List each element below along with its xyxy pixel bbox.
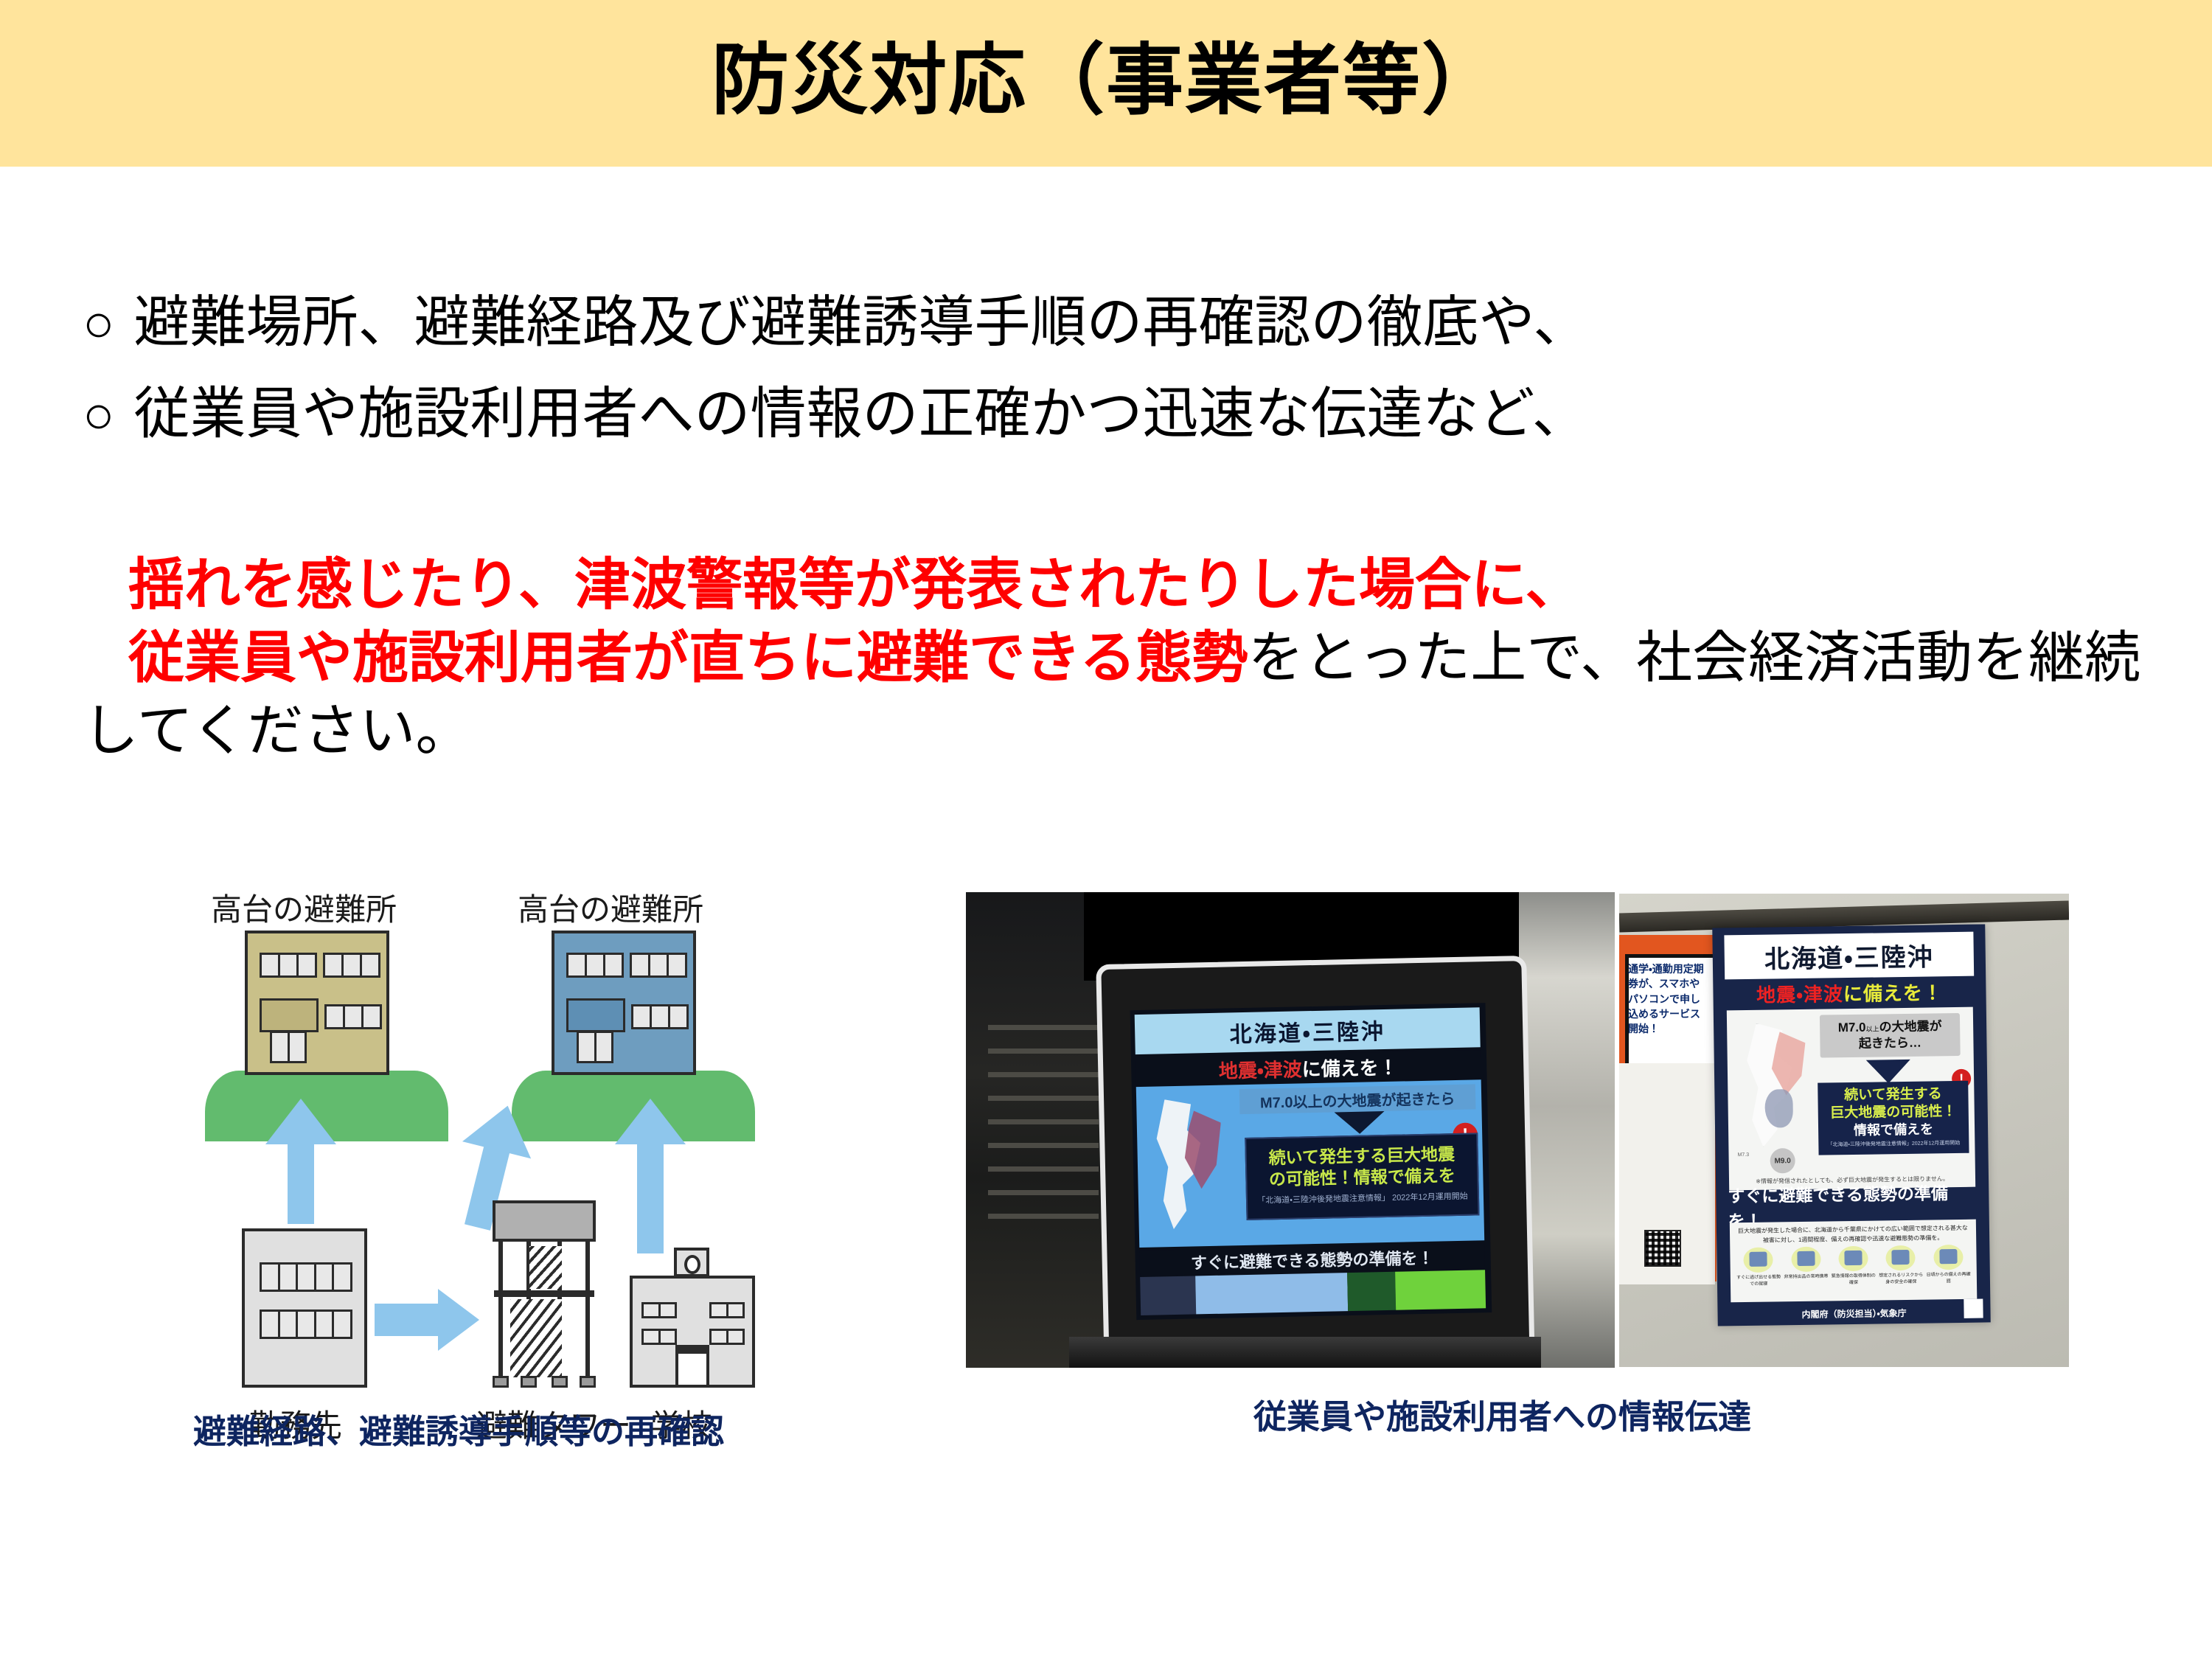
poster-icon-item: 想定されるリスクから身の安全の確保 — [1877, 1245, 1925, 1298]
poster-subtitle-red: 地震・津波 — [1756, 979, 1843, 1008]
statement-line-2: 従業員や施設利用者が直ちに避難できる態勢をとった上で、社会経済活動を継続 — [83, 622, 2177, 695]
pos-screen-header: 北海道・三陸沖 — [1135, 1007, 1481, 1054]
statement-line-2-red: 従業員や施設利用者が直ちに避難できる態勢 — [128, 627, 1248, 689]
pos-button[interactable] — [1347, 1272, 1397, 1311]
disaster-poster: 北海道・三陸沖 地震・津波に備えを！ M7.0以上の大地震が 起きたら… ! 続… — [1712, 924, 1991, 1326]
poster-main-panel: M7.0以上の大地震が 起きたら… ! 続いて発生する 巨大地震の可能性！ 情報… — [1727, 1007, 1975, 1191]
page-title: 防災対応（事業者等） — [712, 42, 1500, 119]
statement-line-1-red: 揺れを感じたり、津波警報等が発表されたりした場合に、 — [128, 554, 1582, 616]
circle-bullet-icon: ○ — [83, 297, 115, 350]
workplace-building — [242, 1228, 367, 1388]
pos-warning-box: 続いて発生する巨大地震 の可能性！情報で備えを 「北海道・三陸沖後発地震注意情報… — [1245, 1133, 1479, 1220]
photo-wall-poster: 通学・通勤用定期券が、スマホやパソコンで申し込めるサービス開始！ 北海道・三陸沖… — [1619, 894, 2069, 1367]
bullet-item-label: 従業員や施設利用者への情報の正確かつ迅速な伝達など、 — [134, 386, 1588, 442]
shelter-building-left — [245, 931, 389, 1075]
poster-icon-item: 非常持出品の常時携帯 — [1782, 1246, 1830, 1298]
photo-pos-terminal: 北海道・三陸沖 地震・津波に備えを！ M7.0以上の大地震が起きたら ! 続いて… — [966, 892, 1615, 1368]
pos-button-row[interactable] — [1140, 1270, 1486, 1315]
qr-code-icon — [1964, 1299, 1983, 1318]
body-text-block: ○ 避難場所、避難経路及び避難誘導手順の再確認の徹底や、 ○ 従業員や施設利用者… — [83, 295, 2147, 478]
poster-lower-text: 巨大地震が発生した場合に、北海道から千葉県にかけての広い範囲で想定される甚大な被… — [1736, 1224, 1970, 1246]
poster-icon-caption: すぐに逃げ出せる態勢での就寝 — [1735, 1274, 1783, 1287]
evacuation-diagram: 高台の避難所 高台の避難所 — [184, 885, 848, 1371]
terminal-base — [1069, 1337, 1541, 1368]
neighbor-poster-white — [1619, 1063, 1715, 1284]
poster-warning-line3: 情報で備えを — [1818, 1120, 1969, 1138]
poster-icon-caption: 非常持出品の常時携帯 — [1784, 1273, 1828, 1281]
pos-subtitle-red: 地震・津波 — [1218, 1054, 1302, 1083]
poster-m7-small: 以上 — [1866, 1025, 1879, 1032]
statement-line-3: してください。 — [83, 695, 2177, 768]
statement-line-3-black: してください。 — [83, 700, 471, 762]
bullet-item-label: 避難場所、避難経路及び避難誘導手順の再確認の徹底や、 — [134, 295, 1590, 351]
poster-icon-row: すぐに逃げ出せる態勢での就寝 非常持出品の常時携帯 緊急情報の取得体制の確保 想… — [1734, 1245, 1972, 1299]
pos-terminal-screen[interactable]: 北海道・三陸沖 地震・津波に備えを！ M7.0以上の大地震が起きたら ! 続いて… — [1130, 1003, 1492, 1320]
neighbor-poster-text: 通学・通勤用定期券が、スマホやパソコンで申し込めるサービス開始！ — [1628, 961, 1708, 1036]
statement-line-1: 揺れを感じたり、津波警報等が発表されたりした場合に、 — [83, 549, 2177, 622]
poster-m7-bubble: M7.0以上の大地震が 起きたら… — [1820, 1013, 1961, 1058]
shelter-building-right — [552, 931, 696, 1075]
poster-icon-caption: 日頃からの備えの再確認 — [1924, 1272, 1972, 1285]
poster-band: すぐに避難できる態勢の準備を！ — [1728, 1192, 1977, 1220]
poster-magnitude-old: M7.3 — [1738, 1152, 1750, 1158]
caption-right: 従業員や施設利用者への情報伝達 — [1253, 1390, 1751, 1438]
poster-lower-panel: 巨大地震が発生した場合に、北海道から千葉県にかけての広い範囲で想定される甚大な被… — [1730, 1220, 1977, 1303]
poster-icon-item: すぐに逃げ出せる態勢での就寝 — [1734, 1247, 1782, 1299]
pos-terminal-bezel[interactable]: 北海道・三陸沖 地震・津波に備えを！ M7.0以上の大地震が起きたら ! 続いて… — [1096, 956, 1534, 1368]
poster-magnitude-main: M9.0 — [1770, 1148, 1795, 1173]
poster-m7-line2: 起きたら… — [1859, 1035, 1921, 1052]
evacuation-tower — [487, 1200, 602, 1389]
header-band: 防災対応（事業者等） — [0, 0, 2212, 167]
pos-screen-main: M7.0以上の大地震が起きたら ! 続いて発生する巨大地震 の可能性！情報で備え… — [1136, 1079, 1484, 1248]
circle-bullet-icon: ○ — [83, 389, 115, 442]
neighbor-poster-white-text — [1622, 1068, 1712, 1078]
pos-button[interactable] — [1395, 1270, 1486, 1310]
school-building — [630, 1248, 755, 1388]
poster-icon-caption: 緊急情報の取得体制の確保 — [1830, 1273, 1878, 1287]
statement-block: 揺れを感じたり、津波警報等が発表されたりした場合に、 従業員や施設利用者が直ちに… — [83, 549, 2177, 768]
pos-warning-line2: の可能性！情報で備えを — [1247, 1164, 1478, 1190]
down-arrow-icon — [1335, 1111, 1385, 1134]
caption-left: 避難経路、避難誘導手順等の再確認 — [193, 1405, 724, 1453]
poster-icon-item: 緊急情報の取得体制の確保 — [1829, 1246, 1877, 1298]
poster-footer: 内閣府（防災担当）・気象庁 — [1717, 1305, 1990, 1321]
poster-subtitle-rest: に備えを！ — [1843, 978, 1944, 1006]
pos-m7-label: M7.0以上の大地震が起きたら — [1239, 1084, 1476, 1114]
pos-button[interactable] — [1195, 1273, 1348, 1314]
poster-header: 北海道・三陸沖 — [1724, 932, 1974, 980]
poster-icon-caption: 想定されるリスクから身の安全の確保 — [1877, 1273, 1925, 1286]
pos-button[interactable] — [1140, 1276, 1196, 1315]
poster-m7-value: M7.0 — [1838, 1020, 1866, 1035]
pos-warning-note: 「北海道・三陸沖後発地震注意情報」 2022年12月運用開始 — [1248, 1189, 1478, 1206]
pos-subtitle-white: に備えを！ — [1301, 1052, 1398, 1082]
japan-map-graphic — [1144, 1093, 1237, 1240]
japan-map-graphic — [1733, 1018, 1818, 1152]
poster-warning-line1: 続いて発生する — [1818, 1085, 1968, 1105]
bullet-item: ○ 避難場所、避難経路及び避難誘導手順の再確認の徹底や、 — [83, 295, 2147, 351]
statement-line-2-black: をとった上で、社会経済活動を継続 — [1248, 627, 2140, 689]
qr-code-icon — [1644, 1230, 1681, 1267]
bullet-item: ○ 従業員や施設利用者への情報の正確かつ迅速な伝達など、 — [83, 386, 2147, 442]
poster-warning-line2: 巨大地震の可能性！ — [1818, 1103, 1969, 1123]
down-arrow-icon — [1866, 1060, 1910, 1084]
diagram-label-shelter-right: 高台の避難所 — [518, 885, 703, 930]
poster-m7-rest: の大地震が — [1879, 1019, 1941, 1034]
diagram-label-shelter-left: 高台の避難所 — [211, 885, 397, 930]
poster-warning-note: 「北海道・三陸沖後発地震注意情報」2022年12月運用開始 — [1818, 1139, 1969, 1149]
poster-warning-box: 続いて発生する 巨大地震の可能性！ 情報で備えを 「北海道・三陸沖後発地震注意情… — [1818, 1081, 1969, 1155]
poster-icon-item: 日頃からの備えの再確認 — [1924, 1245, 1972, 1297]
poster-subtitle: 地震・津波に備えを！ — [1725, 978, 1974, 1008]
